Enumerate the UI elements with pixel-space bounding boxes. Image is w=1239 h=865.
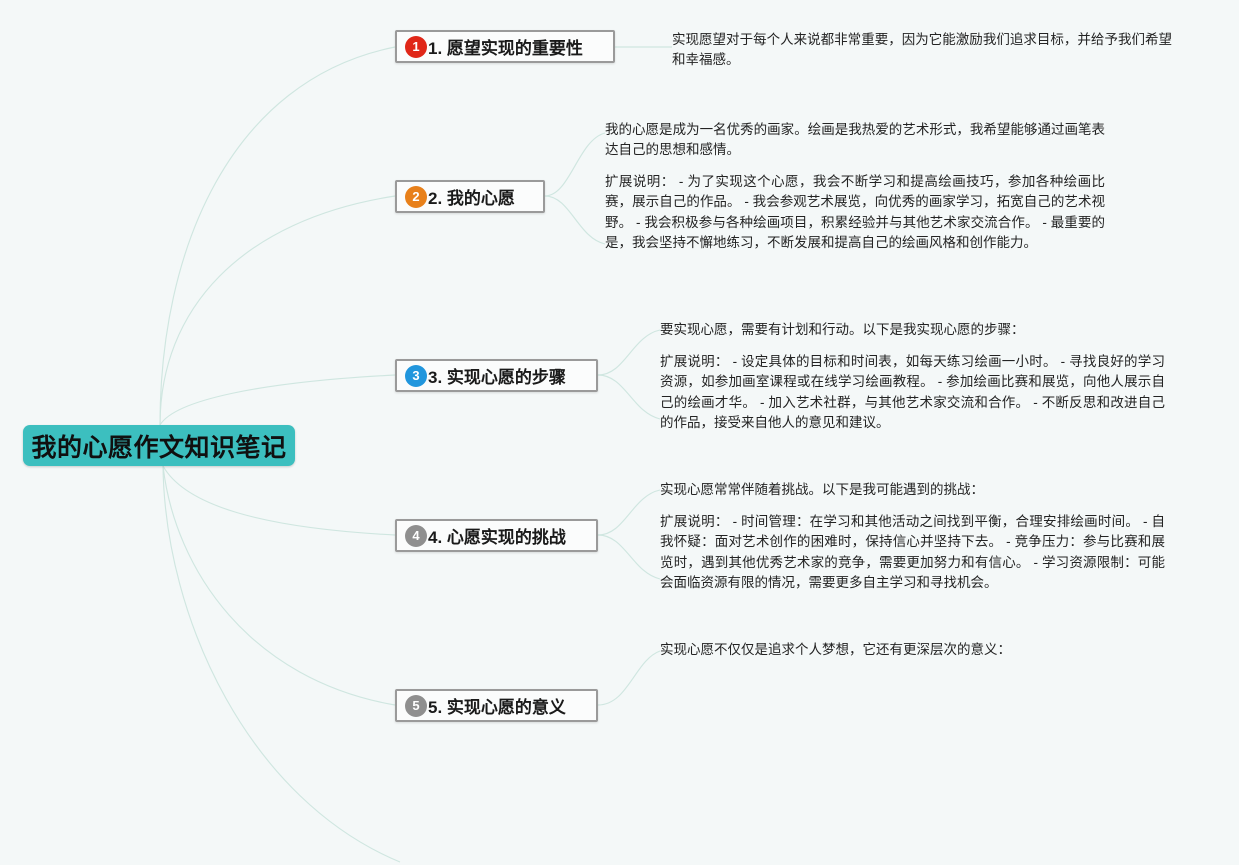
branch-label-2: 2. 我的心愿 (428, 184, 515, 209)
branch-badge-5: 5 (405, 695, 427, 717)
branch-node-1[interactable]: 1 1. 愿望实现的重要性 (395, 30, 615, 63)
branch-label-4: 4. 心愿实现的挑战 (428, 523, 566, 548)
root-node-label: 我的心愿作文知识笔记 (31, 428, 286, 464)
edge-branch-2-leaf-1 (545, 133, 605, 196)
branch-badge-3: 3 (405, 365, 427, 387)
edge-branch-4-leaf-2 (598, 535, 660, 579)
edge-branch-3-leaf-2 (598, 375, 660, 419)
branch-label-1: 1. 愿望实现的重要性 (428, 34, 583, 59)
branch-badge-1: 1 (405, 36, 427, 58)
branch-node-4[interactable]: 4 4. 心愿实现的挑战 (395, 519, 598, 552)
leaf-3-1: 要实现心愿，需要有计划和行动。以下是我实现心愿的步骤： (660, 320, 1165, 340)
branch-node-2[interactable]: 2 2. 我的心愿 (395, 180, 545, 213)
edge-root-to-branch-3 (160, 375, 395, 425)
edge-root-to-branch-1 (160, 47, 395, 425)
edge-root-to-branch-5 (163, 466, 395, 705)
leaf-4-2: 扩展说明： - 时间管理：在学习和其他活动之间找到平衡，合理安排绘画时间。 - … (660, 512, 1165, 594)
branch-node-5[interactable]: 5 5. 实现心愿的意义 (395, 689, 598, 722)
edge-root-to-branch-6 (163, 466, 400, 862)
leaf-1-1: 实现愿望对于每个人来说都非常重要，因为它能激励我们追求目标，并给予我们希望和幸福… (672, 30, 1172, 71)
edge-root-to-branch-2 (160, 196, 395, 425)
branch-badge-4: 4 (405, 525, 427, 547)
leaf-3-2: 扩展说明： - 设定具体的目标和时间表，如每天练习绘画一小时。 - 寻找良好的学… (660, 352, 1165, 434)
branch-node-3[interactable]: 3 3. 实现心愿的步骤 (395, 359, 598, 392)
branch-label-5: 5. 实现心愿的意义 (428, 693, 566, 718)
edge-branch-4-leaf-1 (598, 490, 660, 535)
branch-badge-2: 2 (405, 186, 427, 208)
mindmap-canvas: 我的心愿作文知识笔记 1 1. 愿望实现的重要性 实现愿望对于每个人来说都非常重… (0, 0, 1239, 865)
branch-label-3: 3. 实现心愿的步骤 (428, 363, 566, 388)
edge-branch-3-leaf-1 (598, 330, 660, 375)
edge-branch-2-leaf-2 (545, 196, 605, 244)
edge-root-to-branch-4 (163, 466, 395, 535)
edge-branch-5-leaf-1 (598, 651, 660, 705)
leaf-2-1: 我的心愿是成为一名优秀的画家。绘画是我热爱的艺术形式，我希望能够通过画笔表达自己… (605, 120, 1105, 161)
leaf-2-2: 扩展说明： - 为了实现这个心愿，我会不断学习和提高绘画技巧，参加各种绘画比赛，… (605, 172, 1105, 254)
leaf-4-1: 实现心愿常常伴随着挑战。以下是我可能遇到的挑战： (660, 480, 1165, 500)
leaf-5-1: 实现心愿不仅仅是追求个人梦想，它还有更深层次的意义： (660, 640, 1165, 660)
root-node[interactable]: 我的心愿作文知识笔记 (23, 425, 295, 466)
